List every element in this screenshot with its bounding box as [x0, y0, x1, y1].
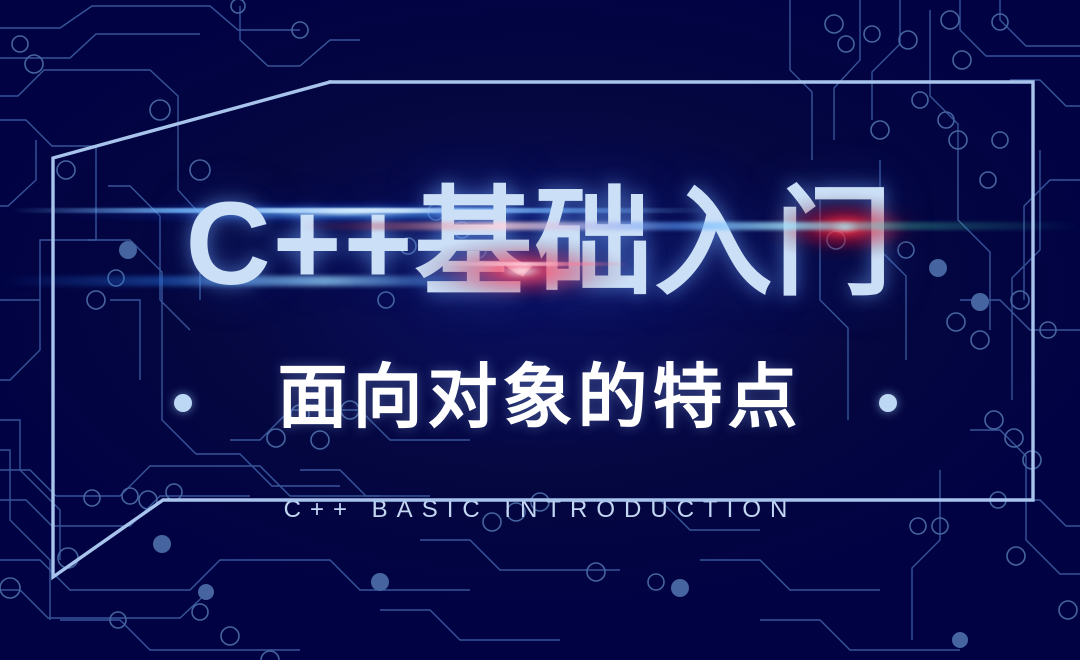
slide-subtitle: 面向对象的特点 — [0, 355, 1080, 439]
slide-eyebrow-text: C++ BASIC INTRODUCTION — [0, 494, 1080, 526]
circuit-pattern-background — [0, 0, 1080, 660]
slide-canvas: C++基础入门 面向对象的特点 C++ BASIC INTRODUCTION — [0, 0, 1080, 660]
slide-title: C++基础入门 — [0, 178, 1080, 310]
decorative-frame-border — [0, 0, 1080, 660]
